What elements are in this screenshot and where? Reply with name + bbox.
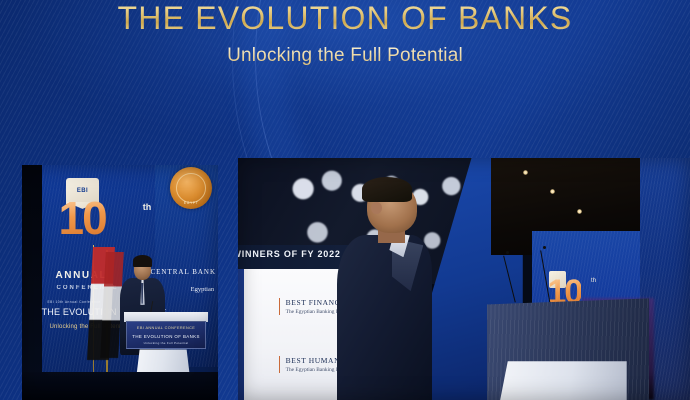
podium-sign-subtitle: Unlocking the Full Potential [144, 341, 189, 345]
left-speaker-hair [133, 255, 153, 267]
stage-floor [22, 372, 218, 400]
podium-sign-logo: EBI ANNUAL CONFERENCE [137, 326, 195, 330]
photo-left-inner: EBI 10 th ANNUAL CONFERENCE EGYPT CENTRA… [22, 165, 218, 400]
photo-right-inner: WINNERS OF FY 2022 BEST FINANCIAL INSTIT… [238, 158, 690, 400]
anniversary-ordinal: th [143, 202, 152, 212]
central-bank-sublabel: Egyptian [191, 286, 214, 293]
ceiling-spotlight-icon [577, 209, 582, 214]
side-logo-badge [549, 271, 566, 287]
page-title: THE EVOLUTION OF BANKS [0, 0, 690, 36]
photo-right-speaker-closeup: WINNERS OF FY 2022 BEST FINANCIAL INSTIT… [238, 158, 690, 400]
poster-canvas: THE EVOLUTION OF BANKS Unlocking the Ful… [0, 0, 690, 400]
right-podium-base [500, 361, 627, 400]
right-speaker-hair [362, 177, 412, 201]
central-bank-label: CENTRAL BANK [150, 268, 216, 276]
page-subtitle: Unlocking the Full Potential [0, 45, 690, 67]
left-podium-sign: EBI ANNUAL CONFERENCE THE EVOLUTION OF B… [126, 321, 206, 349]
ceiling-spotlight-icon [523, 170, 528, 175]
screen-banner-text: WINNERS OF FY 2022 [238, 249, 341, 259]
right-speaker-ear [371, 202, 381, 214]
photo-left-stage-wide: EBI 10 th ANNUAL CONFERENCE EGYPT CENTRA… [22, 165, 218, 400]
podium-sign-title: THE EVOLUTION OF BANKS [132, 334, 200, 339]
seal-text: EGYPT [184, 201, 199, 205]
side-anniversary-ordinal: th [591, 278, 596, 284]
right-microphone-head [506, 251, 509, 254]
anniversary-number: 10 [59, 195, 106, 241]
poster-header: THE EVOLUTION OF BANKS Unlocking the Ful… [0, 0, 690, 67]
